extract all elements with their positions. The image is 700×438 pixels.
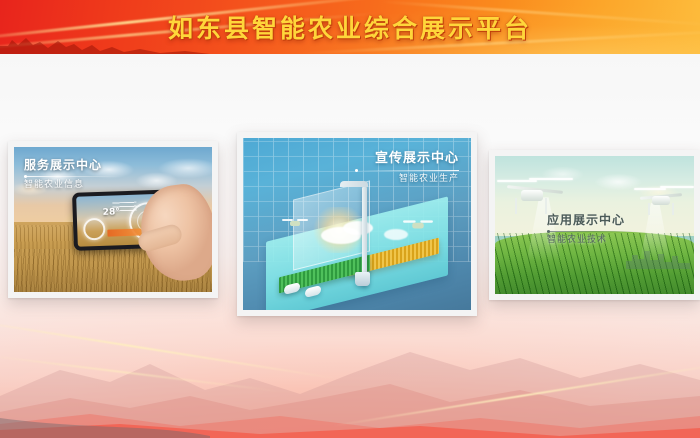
street-lamp: [362, 186, 367, 286]
drone-rotor: [634, 188, 666, 190]
water-bucket: [355, 272, 370, 286]
hud-gauge-ring-icon: [83, 217, 106, 240]
caption-dot: [24, 175, 27, 178]
drone-body: [521, 190, 543, 201]
caption-divider: [355, 170, 459, 171]
city-skyline-silhouette: [626, 247, 690, 269]
drone-icon: [406, 220, 431, 229]
app-stage: 如东县智能农业综合展示平台 28° 服务展示中心: [0, 0, 700, 438]
card-subtitle-promotion: 智能农业生产: [355, 174, 459, 184]
card-caption-promotion: 宣传展示中心 智能农业生产: [355, 152, 459, 184]
page-title: 如东县智能农业综合展示平台: [0, 0, 700, 54]
cloud: [343, 221, 373, 235]
card-caption-application: 应用展示中心 智能农业技术: [547, 214, 639, 245]
drone-icon: [284, 219, 306, 227]
card-image-service: 28° 服务展示中心 智能农业信息: [14, 147, 212, 292]
card-image-application: 应用展示中心 智能农业技术: [495, 156, 694, 294]
drone-rotor: [529, 178, 573, 180]
hud-temperature: 28°: [103, 207, 120, 218]
caption-dot: [355, 169, 358, 172]
drone-leg: [648, 203, 650, 215]
card-service-display-center[interactable]: 28° 服务展示中心 智能农业信息: [8, 141, 218, 298]
drone-rotor: [497, 180, 537, 182]
card-title-application: 应用展示中心: [547, 214, 639, 228]
drone-leg: [515, 198, 517, 214]
card-image-promotion: 宣传展示中心 智能农业生产: [243, 138, 471, 310]
drone-body: [412, 222, 424, 228]
header-banner: 如东县智能农业综合展示平台: [0, 0, 700, 54]
caption-divider: [547, 231, 639, 232]
drone-leg: [545, 198, 547, 214]
card-application-display-center[interactable]: 应用展示中心 智能农业技术: [489, 150, 700, 300]
drone-icon-large: [499, 178, 577, 218]
drone-icon-large: [634, 186, 692, 218]
card-promotion-display-center[interactable]: 宣传展示中心 智能农业生产: [237, 132, 477, 316]
drone-body: [290, 221, 300, 226]
card-subtitle-application: 智能农业技术: [547, 235, 639, 245]
caption-dot: [547, 230, 550, 233]
card-title-promotion: 宣传展示中心: [355, 152, 459, 167]
card-caption-service: 服务展示中心 智能农业信息: [24, 159, 120, 190]
card-title-service: 服务展示中心: [24, 159, 120, 173]
caption-divider: [24, 176, 120, 177]
card-subtitle-service: 智能农业信息: [24, 180, 120, 190]
drone-rotor: [660, 186, 694, 188]
hud-status-chip: [108, 228, 142, 236]
drone-leg: [672, 203, 674, 215]
drone-body: [652, 196, 670, 205]
